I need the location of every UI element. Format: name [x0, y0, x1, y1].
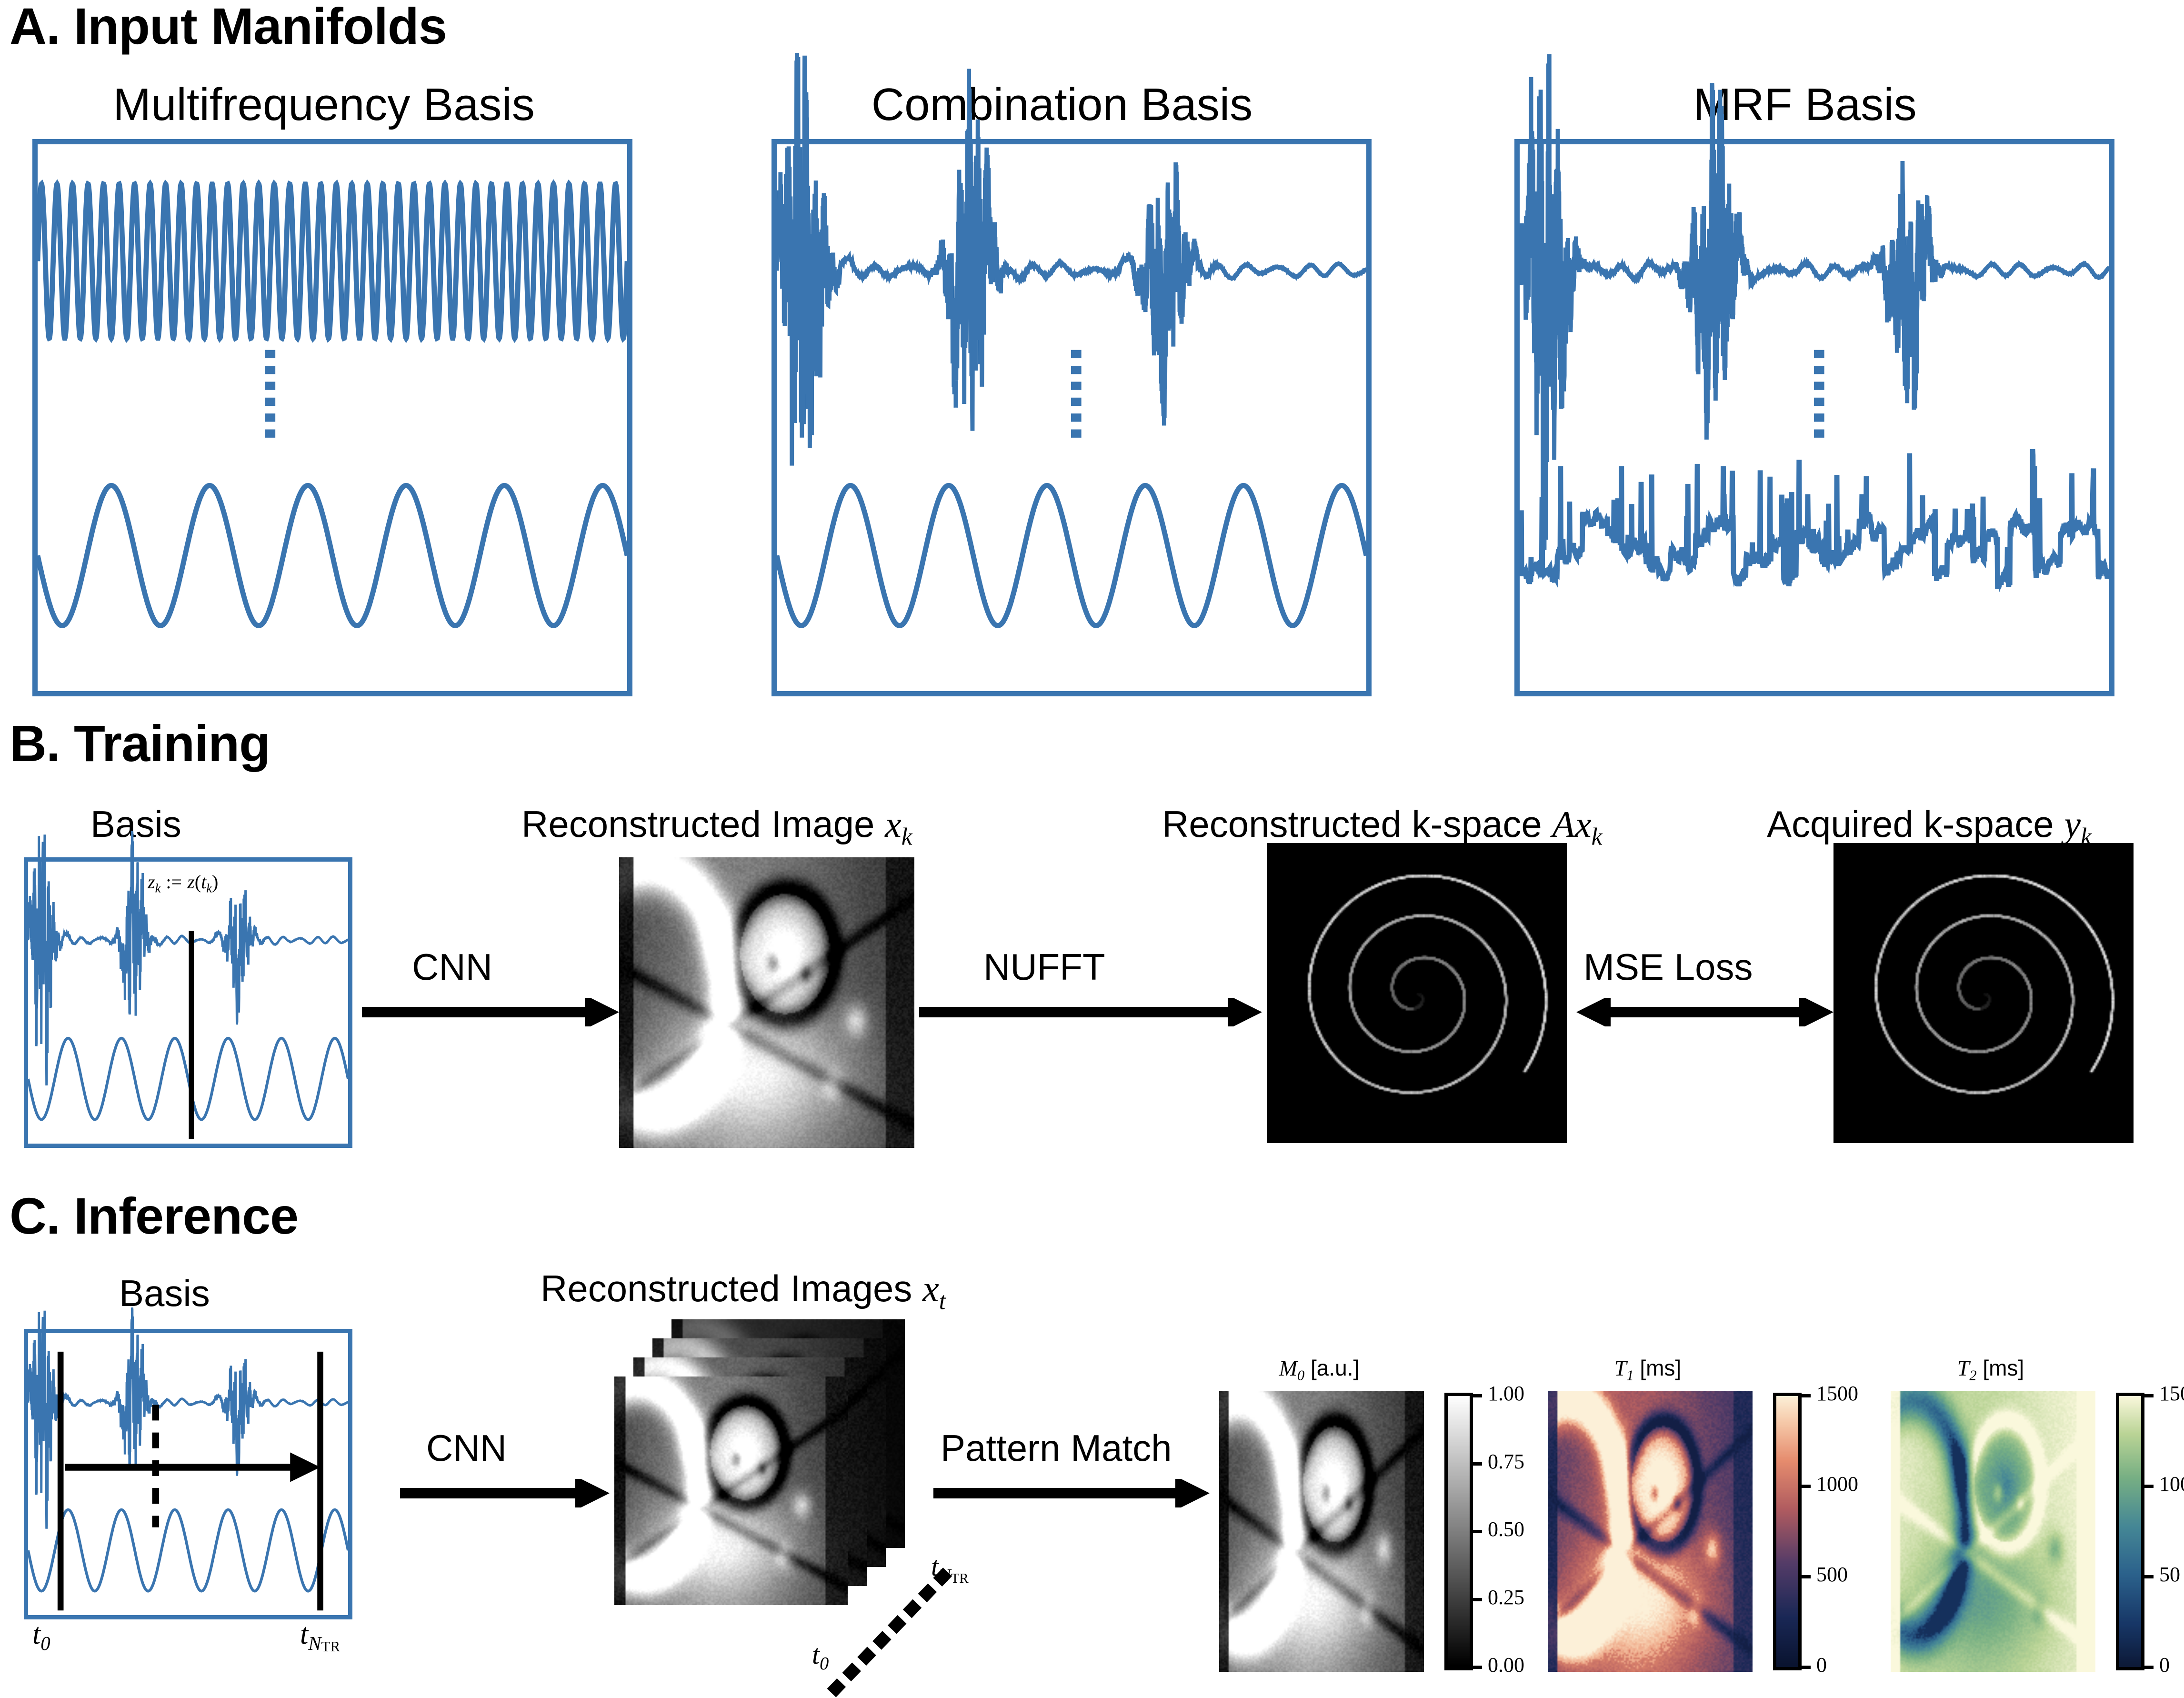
map-title-t1: T1 [ms] — [1541, 1355, 1755, 1384]
arrow-label-mse-loss: MSE Loss — [1583, 945, 1753, 989]
arrow-cnn-training — [362, 998, 619, 1026]
section-title-b: B. Training — [10, 713, 270, 773]
colorbar-tick — [1470, 1666, 1482, 1669]
multifrequency-waveforms — [38, 144, 627, 691]
combination-waveforms — [777, 144, 1366, 691]
colorbar-tick-label: 1500 — [1816, 1381, 1858, 1406]
time-label-t0-stack: t0 — [812, 1638, 829, 1674]
inference-basis-waveforms — [28, 1333, 348, 1615]
colorbar-tick-label: 0.00 — [1488, 1653, 1524, 1677]
t-subsubscript: TR — [951, 1571, 969, 1586]
time-label-tntr-basis: tNTR — [300, 1617, 340, 1655]
colorbar-tick-label: 0.25 — [1488, 1585, 1524, 1609]
title-units: [a.u.] — [1311, 1356, 1359, 1380]
m0-map-image — [1219, 1391, 1424, 1672]
arrow-label-nufft: NUFFT — [983, 945, 1105, 989]
label-text: Acquired k-space — [1767, 803, 2064, 845]
reconstructed-image-training — [619, 857, 914, 1148]
colorbar-tick-label: 1.00 — [1488, 1381, 1524, 1406]
arrow-nufft — [919, 998, 1262, 1026]
colorbar-tick-label: 100 — [2159, 1472, 2184, 1496]
t-symbol: t — [931, 1551, 939, 1582]
colorbar-tick-label: 0 — [2159, 1653, 2170, 1677]
t2-map-image — [1891, 1391, 2095, 1672]
map-title-m0: M0 [a.u.] — [1212, 1355, 1426, 1384]
title-subscript: 1 — [1626, 1367, 1633, 1384]
basis-box-training — [24, 857, 352, 1148]
manifold-box-multifrequency — [32, 139, 632, 696]
arrow-mse-loss — [1576, 998, 1833, 1026]
arrow-label-cnn-training: CNN — [412, 945, 492, 989]
colorbar-tick-label: 0 — [1816, 1653, 1827, 1677]
arrow-label-pattern-match: Pattern Match — [941, 1427, 1172, 1470]
title-subscript: 2 — [1969, 1367, 1976, 1384]
colorbar-tick-label: 150 — [2159, 1381, 2184, 1406]
t-subscript: 0 — [40, 1633, 50, 1654]
colorbar-tick — [1470, 1394, 1482, 1397]
arrow-cnn-inference — [400, 1479, 610, 1507]
colorbar-tick — [1470, 1598, 1482, 1601]
acquired-kspace-image — [1833, 843, 2134, 1143]
colorbar-tick-label: 50 — [2159, 1562, 2180, 1587]
panel-title-combination: Combination Basis — [767, 79, 1357, 131]
math-symbol: y — [2064, 804, 2081, 845]
time-label-tntr-stack: tNTR — [931, 1550, 969, 1587]
panel-title-mrf: MRF Basis — [1510, 79, 2100, 131]
stack-frame-1 — [614, 1376, 848, 1605]
time-label-t0-basis: t0 — [32, 1617, 50, 1655]
arrow-label-cnn-inference: CNN — [426, 1427, 507, 1470]
math-subscript: t — [939, 1287, 946, 1315]
basis-annotation-zk: zk := z(tk) — [148, 871, 218, 895]
math-subscript: k — [1592, 823, 1603, 850]
section-title-a: A. Input Manifolds — [10, 0, 447, 56]
label-reconstructed-image: Reconstructed Image xk — [521, 803, 912, 851]
colorbar-tick — [1470, 1462, 1482, 1466]
t-symbol: t — [300, 1618, 308, 1650]
dotted-divider-icon — [265, 350, 276, 438]
label-text: Reconstructed Images — [541, 1267, 922, 1309]
colorbar-tick — [2141, 1394, 2154, 1397]
colorbar-tick-label: 500 — [1816, 1562, 1848, 1587]
colorbar-tick-label: 1000 — [1816, 1472, 1858, 1496]
title-symbol: T — [1614, 1356, 1627, 1380]
dotted-divider-icon — [1071, 350, 1082, 438]
training-basis-waveforms — [28, 862, 348, 1144]
colorbar-tick — [2141, 1575, 2154, 1578]
title-units: [ms] — [1983, 1356, 2024, 1380]
colorbar-tick — [1798, 1394, 1811, 1397]
label-basis-training: Basis — [90, 803, 181, 846]
time-axis-dotted-line — [826, 1546, 998, 1698]
title-units: [ms] — [1640, 1356, 1681, 1380]
m0-colorbar — [1448, 1396, 1470, 1667]
t2-colorbar — [2119, 1396, 2141, 1667]
t1-map-image — [1548, 1391, 1753, 1672]
title-subscript: 0 — [1297, 1367, 1304, 1384]
colorbar-tick — [1798, 1666, 1811, 1669]
label-reconstructed-images: Reconstructed Images xt — [541, 1267, 946, 1315]
basis-box-inference — [24, 1329, 352, 1619]
t-subscript: 0 — [820, 1654, 829, 1674]
manifold-box-combination — [771, 139, 1372, 696]
arrow-pattern-match — [933, 1479, 1210, 1507]
math-symbol: x — [885, 804, 902, 845]
label-text: Reconstructed k-space — [1162, 803, 1552, 845]
mrf-waveforms — [1520, 144, 2109, 691]
colorbar-tick-label: 0.75 — [1488, 1449, 1524, 1474]
colorbar-tick — [1470, 1530, 1482, 1533]
math-subscript: k — [902, 823, 912, 850]
figure-root: A. Input Manifolds Multifrequency Basis … — [0, 0, 2184, 1694]
t-subscript: N — [939, 1566, 951, 1586]
math-symbol: x — [922, 1268, 939, 1309]
t-subscript: N — [308, 1633, 321, 1654]
t-subsubscript: TR — [321, 1638, 341, 1655]
colorbar-tick — [2141, 1485, 2154, 1488]
section-title-c: C. Inference — [10, 1186, 298, 1246]
math-symbol: Ax — [1552, 804, 1591, 845]
t-symbol: t — [812, 1639, 820, 1670]
title-symbol: T — [1957, 1356, 1970, 1380]
colorbar-tick — [1798, 1485, 1811, 1488]
colorbar-tick — [2141, 1666, 2154, 1669]
title-symbol: M — [1279, 1356, 1297, 1380]
dotted-divider-icon — [1814, 350, 1824, 438]
t1-colorbar — [1776, 1396, 1798, 1667]
t-symbol: t — [32, 1618, 40, 1650]
label-text: Reconstructed Image — [521, 803, 885, 845]
manifold-box-mrf — [1514, 139, 2114, 696]
map-title-t2: T2 [ms] — [1883, 1355, 2098, 1384]
reconstructed-kspace-image — [1267, 843, 1567, 1143]
colorbar-tick — [1798, 1575, 1811, 1578]
panel-title-multifrequency: Multifrequency Basis — [29, 79, 619, 131]
colorbar-tick-label: 0.50 — [1488, 1517, 1524, 1541]
